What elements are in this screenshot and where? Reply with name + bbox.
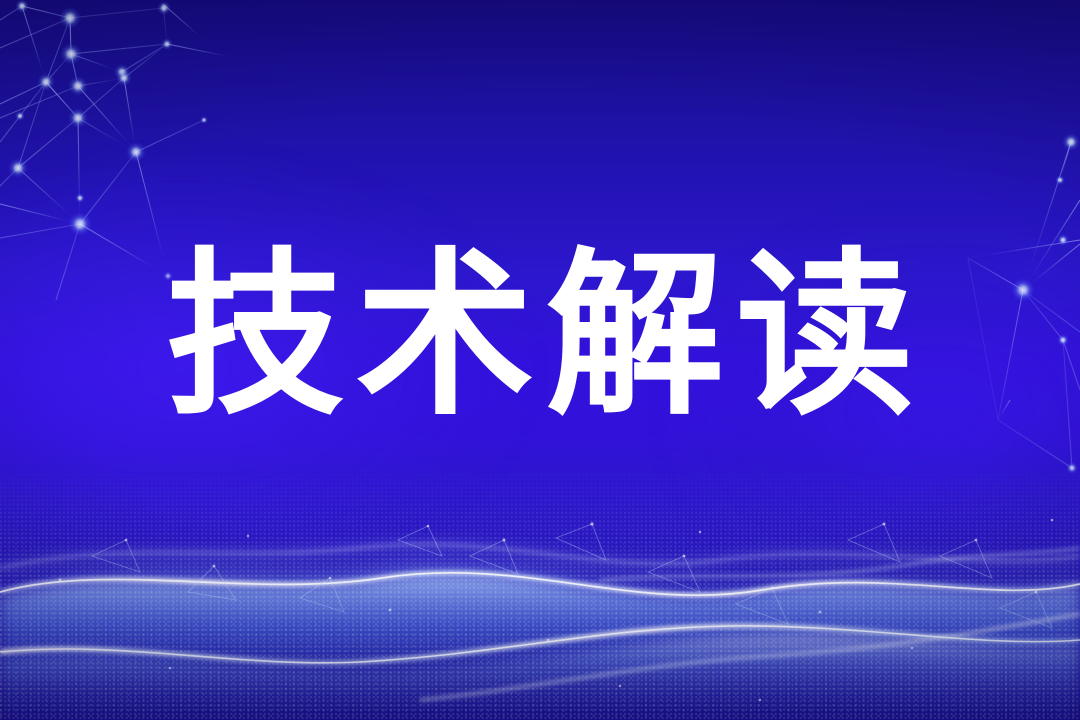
background-vignette <box>0 0 1080 720</box>
banner-root: 技术解读 <box>0 0 1080 720</box>
